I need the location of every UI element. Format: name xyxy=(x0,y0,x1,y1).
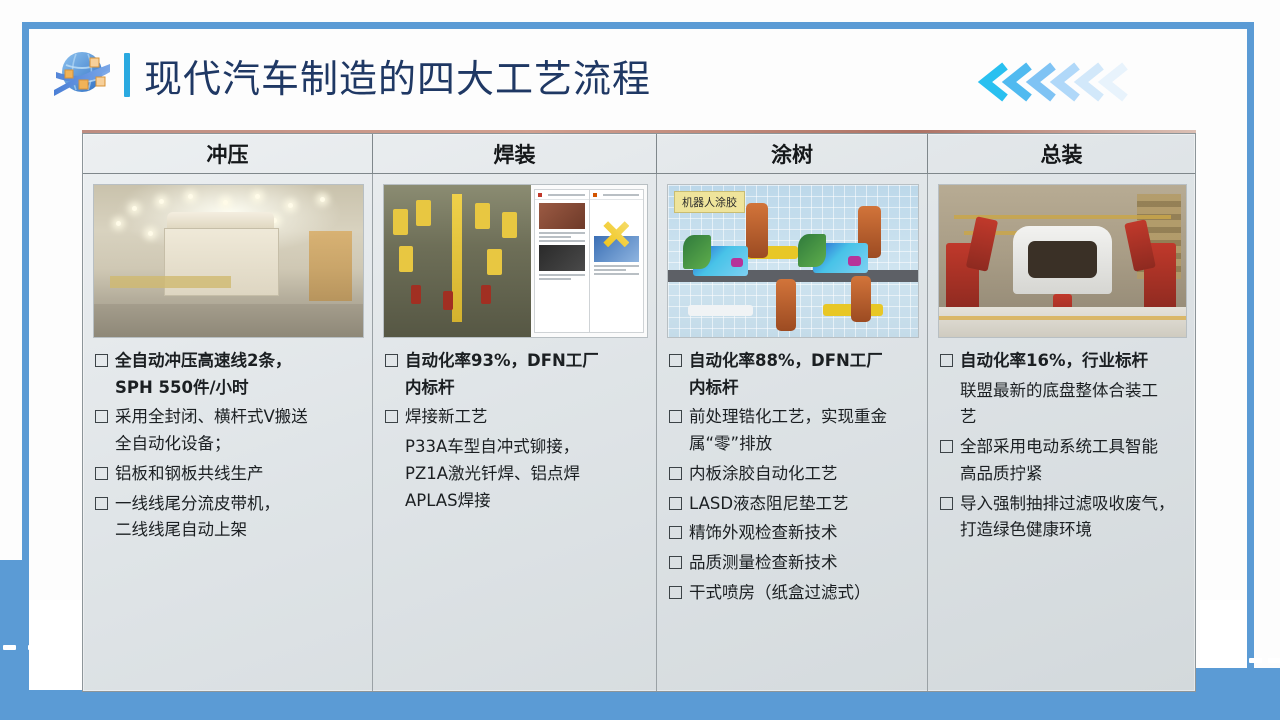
bullet-text: 联盟最新的底盘整体合装工 艺 xyxy=(960,378,1158,431)
bullet-text: 内板涂胶自动化工艺 xyxy=(689,461,838,488)
bullet-list-stamping: 全自动冲压高速线2条， SPH 550件/小时 采用全封闭、横杆式V搬送 全自动… xyxy=(83,342,372,691)
photo-wrap-welding xyxy=(373,174,656,342)
bullet-marker-icon xyxy=(95,410,108,423)
table-header-welding: 焊装 xyxy=(373,134,657,173)
dash-mark-right-1 xyxy=(1249,658,1262,663)
list-item: 全部采用电动系统工具智能 高品质拧紧 xyxy=(940,434,1185,487)
table-column-painting: 机器人涂胶 自动化率88%，DFN工厂 内标杆 前处理锆化工艺，实现重金 属“零… xyxy=(657,174,928,691)
bullet-text: 品质测量检查新技术 xyxy=(689,550,838,577)
list-item: 全自动冲压高速线2条， SPH 550件/小时 xyxy=(95,348,362,401)
bullet-marker-icon xyxy=(385,354,398,367)
list-item: P33A车型自冲式铆接， PZ1A激光钎焊、铝点焊 APLAS焊接 xyxy=(385,434,646,514)
list-item: 精饰外观检查新技术 xyxy=(669,520,917,547)
bullet-list-painting: 自动化率88%，DFN工厂 内标杆 前处理锆化工艺，实现重金 属“零”排放 内板… xyxy=(657,342,927,691)
table-column-stamping: 全自动冲压高速线2条， SPH 550件/小时 采用全封闭、横杆式V搬送 全自动… xyxy=(83,174,373,691)
robot-gluing-illustration-photo: 机器人涂胶 xyxy=(667,184,919,338)
bullet-marker-icon xyxy=(940,497,953,510)
photo-wrap-assembly xyxy=(928,174,1195,342)
bullet-list-assembly: 自动化率16%，行业标杆 联盟最新的底盘整体合装工 艺 全部采用电动系统工具智能… xyxy=(928,342,1195,691)
slide-frame-top-border xyxy=(22,22,1254,29)
list-item: 自动化率88%，DFN工厂 内标杆 xyxy=(669,348,917,401)
list-item: 采用全封闭、横杆式V搬送 全自动化设备； xyxy=(95,404,362,457)
list-item: 联盟最新的底盘整体合装工 艺 xyxy=(940,378,1185,431)
slide-frame-right-border xyxy=(1247,22,1254,668)
photo-wrap-painting: 机器人涂胶 xyxy=(657,174,927,342)
process-table: 冲压 焊装 涂树 总装 xyxy=(82,133,1196,692)
slide-notch-right xyxy=(1200,600,1247,668)
dash-mark-left-1 xyxy=(3,645,16,650)
bullet-text: 采用全封闭、横杆式V搬送 全自动化设备； xyxy=(115,404,308,457)
list-item: 焊接新工艺 xyxy=(385,404,646,431)
bullet-text: 前处理锆化工艺，实现重金 属“零”排放 xyxy=(689,404,887,457)
bullet-text: P33A车型自冲式铆接， PZ1A激光钎焊、铝点焊 APLAS焊接 xyxy=(405,434,580,514)
bullet-text: 导入强制抽排过滤吸收废气， 打造绿色健康环境 xyxy=(960,491,1175,544)
list-item: 铝板和钢板共线生产 xyxy=(95,461,362,488)
final-assembly-robots-photo xyxy=(938,184,1187,338)
stamping-press-line-photo xyxy=(93,184,364,338)
list-item: 自动化率16%，行业标杆 xyxy=(940,348,1185,375)
bullet-text: 自动化率16%，行业标杆 xyxy=(960,348,1148,375)
bullet-marker-icon xyxy=(385,410,398,423)
table-header-assembly: 总装 xyxy=(928,134,1195,173)
bullet-marker-icon xyxy=(940,354,953,367)
bullet-marker-icon xyxy=(95,467,108,480)
table-header-row: 冲压 焊装 涂树 总装 xyxy=(83,134,1195,174)
slide-header: 现代汽车制造的四大工艺流程 xyxy=(52,42,651,108)
bullet-marker-icon xyxy=(669,467,682,480)
globe-logistics-icon xyxy=(52,46,112,104)
photo-wrap-stamping xyxy=(83,174,372,342)
bullet-marker-icon xyxy=(95,354,108,367)
dash-mark-left-2 xyxy=(28,645,45,650)
table-header-stamping: 冲压 xyxy=(83,134,373,173)
bullet-marker-icon xyxy=(669,526,682,539)
table-body-row: 全自动冲压高速线2条， SPH 550件/小时 采用全封闭、横杆式V搬送 全自动… xyxy=(83,174,1195,691)
bullet-marker-icon xyxy=(669,586,682,599)
list-item: 干式喷房（纸盒过滤式） xyxy=(669,580,917,607)
table-column-assembly: 自动化率16%，行业标杆 联盟最新的底盘整体合装工 艺 全部采用电动系统工具智能… xyxy=(928,174,1195,691)
bullet-marker-icon xyxy=(940,440,953,453)
bullet-text: LASD液态阻尼垫工艺 xyxy=(689,491,849,518)
bullet-text: 全部采用电动系统工具智能 高品质拧紧 xyxy=(960,434,1158,487)
bullet-text: 焊接新工艺 xyxy=(405,404,488,431)
bullet-text: 干式喷房（纸盒过滤式） xyxy=(689,580,871,607)
bullet-list-welding: 自动化率93%，DFN工厂 内标杆 焊接新工艺 P33A车型自冲式铆接， PZ1… xyxy=(373,342,656,691)
list-item: 一线线尾分流皮带机， 二线线尾自动上架 xyxy=(95,491,362,544)
bullet-marker-icon xyxy=(95,497,108,510)
list-item: 导入强制抽排过滤吸收废气， 打造绿色健康环境 xyxy=(940,491,1185,544)
bullet-marker-icon xyxy=(669,497,682,510)
bullet-marker-icon xyxy=(669,556,682,569)
chevron-decoration xyxy=(975,58,1135,106)
list-item: 品质测量检查新技术 xyxy=(669,550,917,577)
bullet-text: 一线线尾分流皮带机， 二线线尾自动上架 xyxy=(115,491,280,544)
list-item: 前处理锆化工艺，实现重金 属“零”排放 xyxy=(669,404,917,457)
bullet-text: 自动化率93%，DFN工厂 内标杆 xyxy=(405,348,599,401)
table-header-painting: 涂树 xyxy=(657,134,928,173)
bullet-text: 自动化率88%，DFN工厂 内标杆 xyxy=(689,348,883,401)
slide-canvas: 现代汽车制造的四大工艺流程 冲压 焊装 涂树 总装 xyxy=(0,0,1280,720)
bullet-marker-icon xyxy=(669,354,682,367)
bullet-text: 铝板和钢板共线生产 xyxy=(115,461,264,488)
welding-line-and-diagram-photo xyxy=(383,184,648,338)
bullet-marker-icon xyxy=(669,410,682,423)
list-item: 自动化率93%，DFN工厂 内标杆 xyxy=(385,348,646,401)
title-accent-bar xyxy=(124,53,130,97)
list-item: LASD液态阻尼垫工艺 xyxy=(669,491,917,518)
bullet-text: 全自动冲压高速线2条， SPH 550件/小时 xyxy=(115,348,291,401)
table-column-welding: 自动化率93%，DFN工厂 内标杆 焊接新工艺 P33A车型自冲式铆接， PZ1… xyxy=(373,174,657,691)
dash-mark-right-2 xyxy=(1268,658,1280,663)
list-item: 内板涂胶自动化工艺 xyxy=(669,461,917,488)
page-title: 现代汽车制造的四大工艺流程 xyxy=(144,48,651,103)
bullet-text: 精饰外观检查新技术 xyxy=(689,520,838,547)
photo-caption-label: 机器人涂胶 xyxy=(674,191,745,213)
